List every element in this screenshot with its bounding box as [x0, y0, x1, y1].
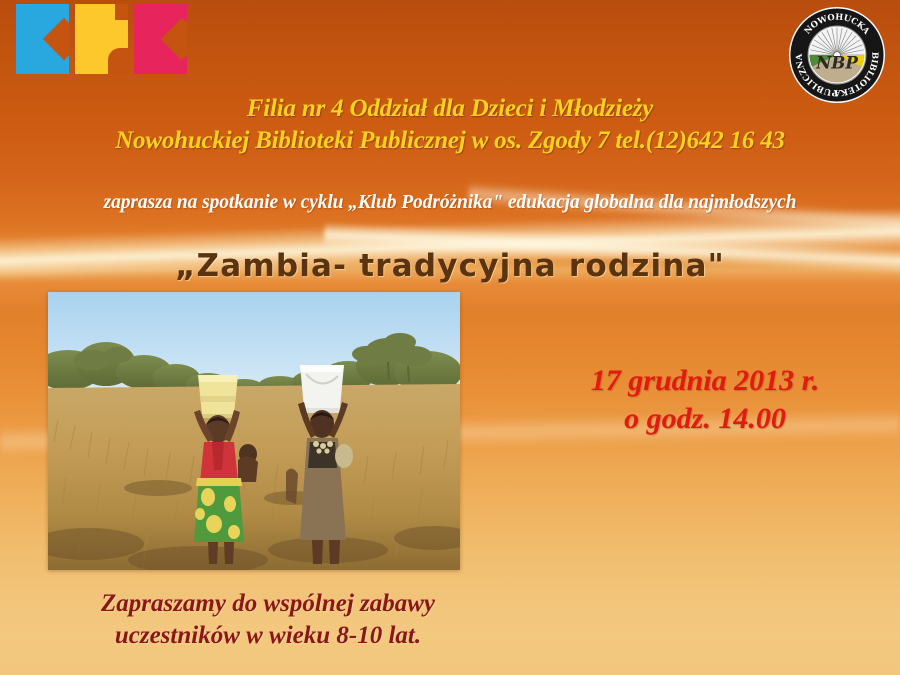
- page-title: „Zambia- tradycyjna rodzina": [0, 248, 900, 284]
- footer-line-1: Zapraszamy do wspólnej zabawy: [8, 588, 528, 620]
- krk-notch: [43, 18, 69, 60]
- header-line-1: Filia nr 4 Oddział dla Dzieci i Młodzież…: [0, 95, 900, 123]
- nbp-monogram: NBP: [815, 53, 858, 73]
- poster-canvas: NOWOHUCKA BIBLIOTEKA PUBLICZNA NBP Filia…: [0, 0, 900, 675]
- event-datetime: 17 grudnia 2013 r. o godz. 14.00: [515, 362, 895, 438]
- event-photo: [48, 292, 460, 570]
- krk-notch: [115, 4, 128, 20]
- event-date-line: 17 grudnia 2013 r.: [515, 362, 895, 400]
- krk-letter-k-pink-icon: [134, 4, 187, 74]
- krk-notch: [108, 48, 128, 74]
- footer-note: Zapraszamy do wspólnej zabawy uczestnikó…: [8, 588, 528, 652]
- event-time-line: o godz. 14.00: [515, 400, 895, 438]
- invitation-line: zaprasza na spotkanie w cyklu „Klub Podr…: [0, 192, 900, 214]
- krk-logo: [16, 4, 188, 74]
- krk-letter-r-yellow-icon: [75, 4, 128, 74]
- nbp-library-logo-icon: NOWOHUCKA BIBLIOTEKA PUBLICZNA NBP: [788, 6, 886, 104]
- krk-letter-k-blue-icon: [16, 4, 69, 74]
- footer-line-2: uczestników w wieku 8-10 lat.: [8, 620, 528, 652]
- header-line-2: Nowohuckiej Biblioteki Publicznej w os. …: [0, 127, 900, 155]
- krk-notch: [161, 18, 187, 60]
